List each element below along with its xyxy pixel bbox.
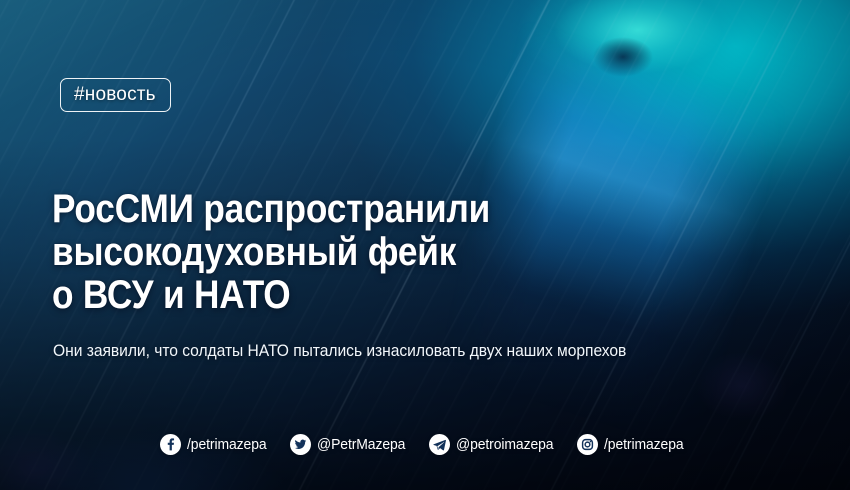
social-link-telegram[interactable]: @petroimazepa [429,434,561,455]
category-tag-badge[interactable]: #новость [60,78,171,112]
social-handle-twitter: @PetrMazepa [317,437,405,452]
social-links-bar: /petrimazepa @PetrMazepa @petroimazepa [0,434,850,455]
card-content: #новость РосСМИ распространили высокодух… [0,0,850,490]
instagram-icon [577,434,598,455]
news-card: #новость РосСМИ распространили высокодух… [0,0,850,490]
social-handle-instagram: /petrimazepa [604,437,684,452]
facebook-icon [160,434,181,455]
social-handle-telegram: @petroimazepa [456,437,553,452]
telegram-icon [429,434,450,455]
social-link-instagram[interactable]: /petrimazepa [577,434,690,455]
page-title: РосСМИ распространили высокодуховный фей… [52,188,721,317]
social-link-facebook[interactable]: /petrimazepa [160,434,273,455]
twitter-icon [290,434,311,455]
social-link-twitter[interactable]: @PetrMazepa [290,434,412,455]
social-handle-facebook: /petrimazepa [187,437,267,452]
subtitle-text: Они заявили, что солдаты НАТО пытались и… [53,340,734,362]
